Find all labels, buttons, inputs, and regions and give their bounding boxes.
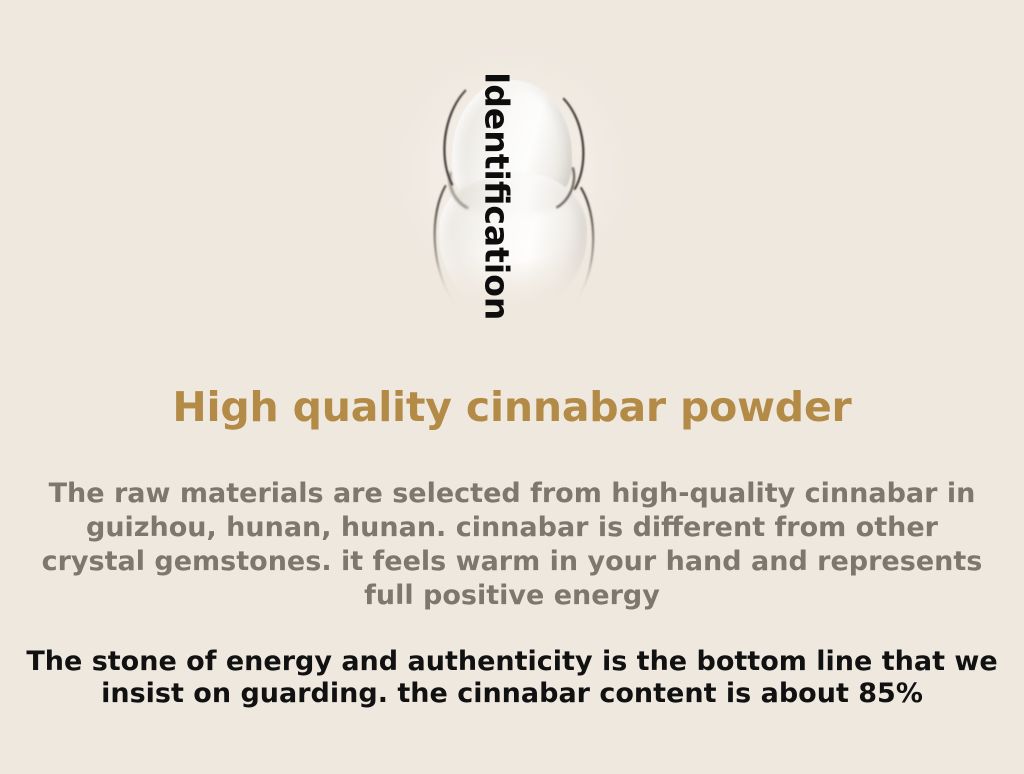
tagline-statement: The stone of energy and authenticity is …	[0, 613, 1024, 710]
body-description: The raw materials are selected from high…	[0, 428, 1024, 613]
product-info-page: Identification High quality cinnabar pow…	[0, 0, 1024, 774]
hero-section: Identification	[0, 0, 1024, 345]
page-title: High quality cinnabar powder	[0, 345, 1024, 428]
identification-vertical-label: Identification	[481, 72, 514, 320]
content-section: High quality cinnabar powder The raw mat…	[0, 345, 1024, 710]
